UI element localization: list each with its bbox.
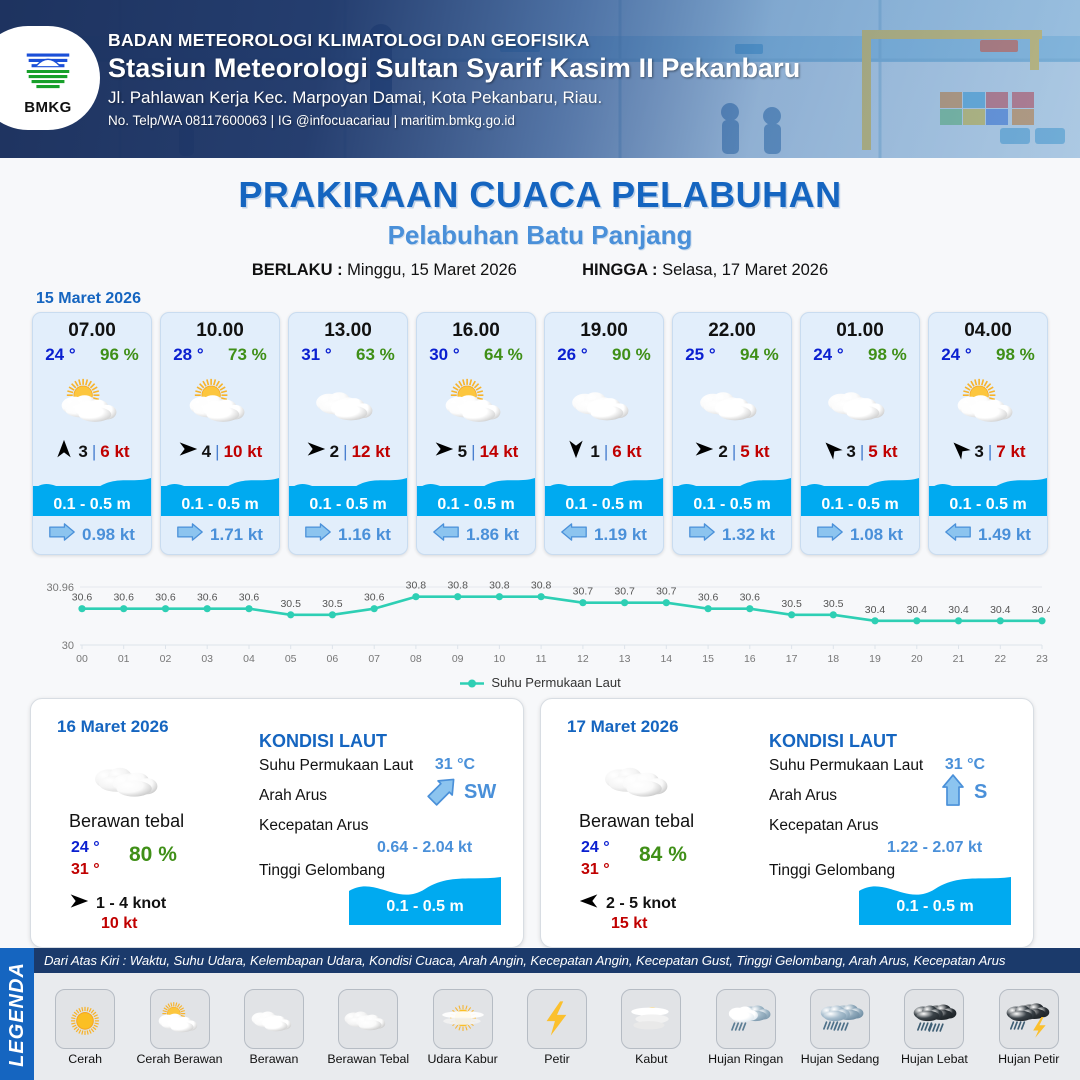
card-current: 1.49 kt: [929, 523, 1047, 546]
svg-text:30.6: 30.6: [740, 592, 761, 604]
legend-side-bar: LEGENDA: [0, 948, 34, 1080]
card-wind-degree: 3: [78, 442, 87, 462]
card-humidity: 96 %: [100, 345, 139, 365]
card-weather-icon: [161, 369, 279, 435]
header-text-block: BADAN METEOROLOGI KLIMATOLOGI DAN GEOFIS…: [108, 30, 800, 128]
card-wind-speed: 14 kt: [480, 442, 519, 462]
card-weather-icon: [33, 369, 151, 435]
legend-hujan-petir-icon: [999, 989, 1059, 1049]
legend-hujan-ringan-icon: [716, 989, 776, 1049]
card-wind-degree: 2: [330, 442, 339, 462]
legend-section: LEGENDA Dari Atas Kiri : Waktu, Suhu Uda…: [0, 948, 1080, 1080]
panel-temp-min: 24 °: [581, 839, 610, 857]
card-current: 1.71 kt: [161, 523, 279, 546]
panel-wind-direction-arrow-icon: [69, 891, 89, 916]
card-weather-icon: [417, 369, 535, 435]
panel-temp-min: 24 °: [71, 839, 100, 857]
legend-hujan-lebat-icon: [904, 989, 964, 1049]
card-current-speed: 1.71 kt: [210, 525, 263, 545]
card-wave-zone: 0.1 - 0.5 m 1.32 kt: [673, 468, 791, 554]
svg-text:02: 02: [160, 653, 172, 665]
card-weather-icon: [673, 369, 791, 435]
current-direction-arrow-icon: [689, 523, 715, 546]
bmkg-logo: BMKG: [0, 26, 100, 130]
legend-item: Cerah: [41, 989, 129, 1066]
card-humidity: 94 %: [740, 345, 779, 365]
card-wave-height: 0.1 - 0.5 m: [929, 496, 1047, 514]
card-wind-degree: 3: [974, 442, 983, 462]
svg-text:30.6: 30.6: [155, 592, 176, 604]
current-direction-arrow-icon: [49, 523, 75, 546]
card-temperature: 31 °: [301, 345, 331, 365]
panel-current-dir-label: Arah Arus: [259, 787, 327, 805]
svg-text:01: 01: [118, 653, 130, 665]
legend-item: Cerah Berawan: [136, 989, 224, 1066]
svg-text:30.7: 30.7: [573, 586, 594, 598]
card-wind-speed: 12 kt: [352, 442, 391, 462]
station-address: Jl. Pahlawan Kerja Kec. Marpoyan Damai, …: [108, 88, 800, 108]
sst-chart: 30.963030.60030.60130.60230.60330.60430.…: [30, 565, 1050, 673]
card-current: 1.16 kt: [289, 523, 407, 546]
legend-item: Hujan Petir: [985, 989, 1073, 1066]
wind-direction-arrow-icon: [434, 439, 454, 464]
hourly-card[interactable]: 16.00 30 ° 64 % 5 |: [416, 312, 536, 555]
daily-panels-row: 16 Maret 2026 Berawan tebal 24 ° 31 ° 80…: [0, 690, 1080, 948]
card-current-speed: 1.49 kt: [978, 525, 1031, 545]
current-direction-arrow-icon: [177, 523, 203, 546]
sst-chart-svg: 30.963030.60030.60130.60230.60330.60430.…: [30, 565, 1050, 673]
card-temperature: 30 °: [429, 345, 459, 365]
agency-name: BADAN METEOROLOGI KLIMATOLOGI DAN GEOFIS…: [108, 30, 800, 51]
card-current-speed: 1.19 kt: [594, 525, 647, 545]
legend-item: Hujan Lebat: [890, 989, 978, 1066]
card-wind-degree: 3: [846, 442, 855, 462]
svg-text:30.8: 30.8: [406, 580, 427, 592]
card-wind: 3 | 5 kt: [822, 439, 897, 464]
card-wind: 5 | 14 kt: [434, 439, 519, 464]
card-time: 01.00: [836, 320, 884, 342]
card-wind-speed: 7 kt: [996, 442, 1025, 462]
page-title: PRAKIRAAN CUACA PELABUHAN: [0, 174, 1080, 216]
svg-text:21: 21: [953, 653, 965, 665]
card-temperature: 26 °: [557, 345, 587, 365]
card-wave-height: 0.1 - 0.5 m: [801, 496, 919, 514]
card-wave-zone: 0.1 - 0.5 m 1.16 kt: [289, 468, 407, 554]
legend-item: Petir: [513, 989, 601, 1066]
card-wave-height: 0.1 - 0.5 m: [161, 496, 279, 514]
station-name: Stasiun Meteorologi Sultan Syarif Kasim …: [108, 53, 800, 84]
card-temperature: 24 °: [45, 345, 75, 365]
legend-udara-kabur-icon: [433, 989, 493, 1049]
svg-text:30.4: 30.4: [907, 604, 928, 616]
svg-text:23: 23: [1036, 653, 1048, 665]
card-wave-zone: 0.1 - 0.5 m 1.49 kt: [929, 468, 1047, 554]
legend-item-label: Udara Kabur: [427, 1052, 497, 1066]
card-temperature: 24 °: [941, 345, 971, 365]
card-wind: 2 | 5 kt: [694, 439, 769, 464]
card-current: 0.98 kt: [33, 523, 151, 546]
current-direction-arrow-icon: [561, 523, 587, 546]
panel-humidity: 80 %: [129, 843, 177, 867]
card-weather-icon: [289, 369, 407, 435]
legend-item-label: Kabut: [635, 1052, 667, 1066]
svg-text:30.6: 30.6: [239, 592, 260, 604]
card-current-speed: 1.16 kt: [338, 525, 391, 545]
svg-text:13: 13: [619, 653, 631, 665]
svg-text:10: 10: [494, 653, 506, 665]
legend-item-label: Berawan: [249, 1052, 298, 1066]
panel-wave-value: 0.1 - 0.5 m: [349, 898, 501, 916]
svg-text:30.8: 30.8: [531, 580, 552, 592]
hourly-card[interactable]: 04.00 24 ° 98 % 3 |: [928, 312, 1048, 555]
card-humidity: 98 %: [868, 345, 907, 365]
svg-text:08: 08: [410, 653, 422, 665]
svg-text:19: 19: [869, 653, 881, 665]
current-direction-arrow-icon: [433, 523, 459, 546]
panel-wind: 1 - 4 knot: [69, 891, 166, 916]
card-current: 1.32 kt: [673, 523, 791, 546]
card-current-speed: 1.32 kt: [722, 525, 775, 545]
svg-text:30.5: 30.5: [280, 598, 301, 610]
card-wind: 3 | 7 kt: [950, 439, 1025, 464]
card-wind-speed: 5 kt: [740, 442, 769, 462]
legend-item: Hujan Sedang: [796, 989, 884, 1066]
card-time: 10.00: [196, 320, 244, 342]
hourly-card[interactable]: 07.00 24 ° 96 % 3 |: [32, 312, 152, 555]
svg-text:03: 03: [201, 653, 213, 665]
svg-text:04: 04: [243, 653, 255, 665]
legend-hujan-sedang-icon: [810, 989, 870, 1049]
panel-current-dir-value-group: SW: [427, 779, 496, 806]
panel-current-speed-label: Kecepatan Arus: [769, 817, 878, 835]
card-weather-icon: [801, 369, 919, 435]
panel-current-direction-arrow-icon: [427, 779, 459, 806]
svg-text:30.6: 30.6: [197, 592, 218, 604]
card-weather-icon: [545, 369, 663, 435]
berlaku-label: BERLAKU :: [252, 261, 343, 279]
svg-text:30.5: 30.5: [823, 598, 844, 610]
card-wind-speed: 6 kt: [100, 442, 129, 462]
svg-text:09: 09: [452, 653, 464, 665]
wind-direction-arrow-icon: [694, 439, 714, 464]
legend-cerah-berawan-icon: [150, 989, 210, 1049]
card-wind-degree: 2: [718, 442, 727, 462]
card-wind: 4 | 10 kt: [178, 439, 263, 464]
card-wind-speed: 10 kt: [224, 442, 263, 462]
card-current-speed: 1.86 kt: [466, 525, 519, 545]
panel-sst-value: 31 °C: [435, 756, 475, 774]
svg-text:30.8: 30.8: [489, 580, 510, 592]
panel-temp-max: 31 °: [71, 861, 100, 879]
card-weather-icon: [929, 369, 1047, 435]
hourly-forecast-row: 07.00 24 ° 96 % 3 |: [0, 312, 1080, 555]
legend-item-label: Hujan Ringan: [708, 1052, 783, 1066]
wind-direction-arrow-icon: [54, 439, 74, 464]
hingga-value: Selasa, 17 Maret 2026: [662, 261, 828, 279]
card-wave-zone: 0.1 - 0.5 m 1.86 kt: [417, 468, 535, 554]
panel-condition: Berawan tebal: [579, 811, 694, 832]
legend-item: Udara Kabur: [419, 989, 507, 1066]
svg-text:20: 20: [911, 653, 923, 665]
legend-petir-icon: [527, 989, 587, 1049]
hourly-card[interactable]: 01.00 24 ° 98 % 3 | 5 kt: [800, 312, 920, 555]
svg-text:14: 14: [660, 653, 672, 665]
svg-text:30.96: 30.96: [46, 582, 74, 594]
panel-wind-range: 1 - 4 knot: [96, 895, 166, 913]
legend-berawan-icon: [244, 989, 304, 1049]
svg-text:30.6: 30.6: [113, 592, 134, 604]
daily-forecast-panel[interactable]: 16 Maret 2026 Berawan tebal 24 ° 31 ° 80…: [30, 698, 524, 948]
legend-kabut-icon: [621, 989, 681, 1049]
legend-cerah-icon: [55, 989, 115, 1049]
card-temperature: 24 °: [813, 345, 843, 365]
panel-sst-label: Suhu Permukaan Laut: [769, 757, 923, 775]
bmkg-logo-text: BMKG: [24, 99, 71, 116]
svg-text:16: 16: [744, 653, 756, 665]
bmkg-logo-mark: [19, 40, 77, 98]
card-time: 16.00: [452, 320, 500, 342]
legend-item-label: Hujan Petir: [998, 1052, 1059, 1066]
current-direction-arrow-icon: [945, 523, 971, 546]
wind-direction-arrow-icon: [306, 439, 326, 464]
panel-wave-value: 0.1 - 0.5 m: [859, 898, 1011, 916]
panel-sea-title: KONDISI LAUT: [769, 731, 897, 752]
card-current: 1.86 kt: [417, 523, 535, 546]
card-wave-height: 0.1 - 0.5 m: [417, 496, 535, 514]
chart-legend-marker-icon: [459, 677, 485, 688]
panel-gust: 10 kt: [101, 915, 137, 933]
chart-legend: Suhu Permukaan Laut: [0, 675, 1080, 690]
panel-date: 16 Maret 2026: [57, 717, 169, 737]
card-wind-speed: 6 kt: [612, 442, 641, 462]
card-time: 04.00: [964, 320, 1012, 342]
page-header: BMKG BADAN METEOROLOGI KLIMATOLOGI DAN G…: [0, 0, 1080, 158]
svg-text:30.4: 30.4: [865, 604, 886, 616]
card-wave-height: 0.1 - 0.5 m: [289, 496, 407, 514]
card-current-speed: 1.08 kt: [850, 525, 903, 545]
daily-forecast-panel[interactable]: 17 Maret 2026 Berawan tebal 24 ° 31 ° 84…: [540, 698, 1034, 948]
wind-direction-arrow-icon: [566, 439, 586, 464]
legend-berawan-tebal-icon: [338, 989, 398, 1049]
svg-text:30.5: 30.5: [781, 598, 802, 610]
card-wind-degree: 5: [458, 442, 467, 462]
card-wave-zone: 0.1 - 0.5 m 1.71 kt: [161, 468, 279, 554]
panel-condition: Berawan tebal: [69, 811, 184, 832]
svg-text:30.7: 30.7: [656, 586, 677, 598]
legend-item-label: Hujan Lebat: [901, 1052, 968, 1066]
svg-text:30.6: 30.6: [364, 592, 385, 604]
card-temperature: 28 °: [173, 345, 203, 365]
panel-wind: 2 - 5 knot: [579, 891, 676, 916]
panel-current-speed-value: 0.64 - 2.04 kt: [377, 839, 472, 857]
card-humidity: 63 %: [356, 345, 395, 365]
hourly-card[interactable]: 19.00 26 ° 90 % 1 | 6 kt: [544, 312, 664, 555]
legend-item: Hujan Ringan: [702, 989, 790, 1066]
svg-text:05: 05: [285, 653, 297, 665]
svg-text:30.6: 30.6: [72, 592, 93, 604]
card-current: 1.19 kt: [545, 523, 663, 546]
svg-text:07: 07: [368, 653, 380, 665]
card-wave-height: 0.1 - 0.5 m: [33, 496, 151, 514]
svg-text:30.6: 30.6: [698, 592, 719, 604]
panel-current-direction-arrow-icon: [937, 779, 969, 806]
card-wind: 3 | 6 kt: [54, 439, 129, 464]
panel-current-dir-value-group: S: [937, 779, 987, 806]
panel-current-speed-label: Kecepatan Arus: [259, 817, 368, 835]
current-direction-arrow-icon: [817, 523, 843, 546]
chart-legend-label: Suhu Permukaan Laut: [491, 675, 620, 690]
svg-text:00: 00: [76, 653, 88, 665]
panel-wave-badge: 0.1 - 0.5 m: [349, 873, 501, 925]
svg-text:17: 17: [786, 653, 798, 665]
legend-note: Dari Atas Kiri : Waktu, Suhu Udara, Kele…: [34, 948, 1080, 973]
legend-item-label: Petir: [544, 1052, 569, 1066]
card-wind-degree: 1: [590, 442, 599, 462]
svg-text:18: 18: [827, 653, 839, 665]
hourly-card[interactable]: 13.00 31 ° 63 % 2 | 12 kt: [288, 312, 408, 555]
panel-sst-label: Suhu Permukaan Laut: [259, 757, 413, 775]
panel-temp-max: 31 °: [581, 861, 610, 879]
svg-text:30.7: 30.7: [614, 586, 635, 598]
card-time: 13.00: [324, 320, 372, 342]
card-wave-zone: 0.1 - 0.5 m 1.19 kt: [545, 468, 663, 554]
panel-weather-icon: [601, 747, 681, 805]
svg-text:15: 15: [702, 653, 714, 665]
legend-item-label: Berawan Tebal: [327, 1052, 409, 1066]
card-time: 19.00: [580, 320, 628, 342]
legend-items-row: Cerah Cerah Berawan: [34, 973, 1080, 1080]
card-current-speed: 0.98 kt: [82, 525, 135, 545]
hourly-day-label: 15 Maret 2026: [36, 290, 1080, 308]
svg-text:11: 11: [536, 653, 547, 665]
legend-item-label: Hujan Sedang: [801, 1052, 880, 1066]
hingga-label: HINGGA :: [582, 261, 657, 279]
panel-sea-title: KONDISI LAUT: [259, 731, 387, 752]
card-wave-height: 0.1 - 0.5 m: [673, 496, 791, 514]
svg-text:22: 22: [994, 653, 1006, 665]
legend-item: Kabut: [607, 989, 695, 1066]
svg-text:30.4: 30.4: [1032, 604, 1050, 616]
panel-humidity: 84 %: [639, 843, 687, 867]
wind-direction-arrow-icon: [950, 439, 970, 464]
hourly-card[interactable]: 22.00 25 ° 94 % 2 | 5 kt: [672, 312, 792, 555]
validity-period: BERLAKU : Minggu, 15 Maret 2026 HINGGA :…: [0, 261, 1080, 280]
card-current: 1.08 kt: [801, 523, 919, 546]
wind-direction-arrow-icon: [178, 439, 198, 464]
panel-wind-direction-arrow-icon: [579, 891, 599, 916]
card-humidity: 64 %: [484, 345, 523, 365]
card-wind: 1 | 6 kt: [566, 439, 641, 464]
card-wind-speed: 5 kt: [868, 442, 897, 462]
hourly-card[interactable]: 10.00 28 ° 73 % 4 |: [160, 312, 280, 555]
card-wave-zone: 0.1 - 0.5 m 1.08 kt: [801, 468, 919, 554]
panel-weather-icon: [91, 747, 171, 805]
legend-item: Berawan: [230, 989, 318, 1066]
panel-current-dir-label: Arah Arus: [769, 787, 837, 805]
page-subtitle: Pelabuhan Batu Panjang: [0, 220, 1080, 251]
legend-item-label: Cerah Berawan: [136, 1052, 222, 1066]
legend-item: Berawan Tebal: [324, 989, 412, 1066]
panel-current-speed-value: 1.22 - 2.07 kt: [887, 839, 982, 857]
wind-direction-arrow-icon: [822, 439, 842, 464]
svg-text:30: 30: [62, 640, 74, 652]
panel-wave-badge: 0.1 - 0.5 m: [859, 873, 1011, 925]
card-humidity: 73 %: [228, 345, 267, 365]
panel-sst-value: 31 °C: [945, 756, 985, 774]
svg-text:30.4: 30.4: [990, 604, 1011, 616]
card-wind-degree: 4: [202, 442, 211, 462]
card-temperature: 25 °: [685, 345, 715, 365]
legend-item-label: Cerah: [68, 1052, 102, 1066]
card-humidity: 90 %: [612, 345, 651, 365]
current-direction-arrow-icon: [305, 523, 331, 546]
svg-text:06: 06: [327, 653, 339, 665]
card-wave-zone: 0.1 - 0.5 m 0.98 kt: [33, 468, 151, 554]
panel-date: 17 Maret 2026: [567, 717, 679, 737]
panel-current-dir-value: SW: [464, 781, 496, 804]
card-time: 07.00: [68, 320, 116, 342]
svg-text:30.4: 30.4: [948, 604, 969, 616]
svg-text:12: 12: [577, 653, 589, 665]
berlaku-value: Minggu, 15 Maret 2026: [347, 261, 517, 279]
station-contact: No. Telp/WA 08117600063 | IG @infocuacar…: [108, 113, 800, 128]
legend-side-label: LEGENDA: [6, 962, 29, 1067]
card-time: 22.00: [708, 320, 756, 342]
card-wind: 2 | 12 kt: [306, 439, 391, 464]
panel-gust: 15 kt: [611, 915, 647, 933]
panel-wind-range: 2 - 5 knot: [606, 895, 676, 913]
legend-main: Dari Atas Kiri : Waktu, Suhu Udara, Kele…: [34, 948, 1080, 1080]
card-humidity: 98 %: [996, 345, 1035, 365]
panel-current-dir-value: S: [974, 781, 987, 804]
svg-text:30.8: 30.8: [447, 580, 468, 592]
card-wave-height: 0.1 - 0.5 m: [545, 496, 663, 514]
svg-text:30.5: 30.5: [322, 598, 343, 610]
